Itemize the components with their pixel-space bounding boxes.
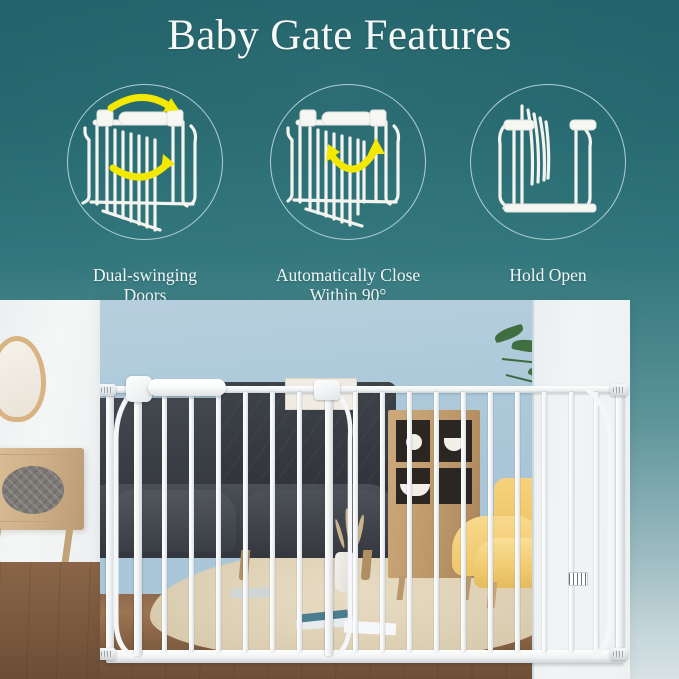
wood-cabinet: [0, 448, 84, 530]
gate-brace-left: [100, 384, 160, 664]
gate-pressure-indicator: [568, 572, 588, 586]
feature-caption-line1: Automatically Close: [276, 265, 420, 285]
gate-bar: [461, 392, 466, 652]
cabinet-leg: [62, 528, 74, 562]
gate-wall-mount-bottom-right: [610, 648, 628, 660]
feature-caption: Hold Open: [448, 265, 648, 285]
gate-handle[interactable]: [148, 379, 226, 396]
feature-caption-line1: Dual-swinging: [93, 265, 197, 285]
gate-bar: [515, 392, 520, 652]
baby-gate-auto-close-icon: [270, 84, 426, 240]
left-room-wall: [0, 300, 100, 679]
gate-wall-mount-top-right: [610, 384, 628, 396]
baby-gate: [100, 300, 630, 679]
page-title: Baby Gate Features: [0, 8, 679, 64]
gate-wall-mount-top-left: [100, 384, 116, 396]
gate-bar: [189, 392, 194, 652]
baby-gate-hold-open-icon: [470, 84, 626, 240]
cabinet-rattan-circle: [2, 466, 64, 514]
gate-bar: [488, 392, 493, 652]
gate-bar: [243, 392, 248, 652]
cabinet-leg: [0, 528, 1, 562]
gate-bar: [162, 392, 167, 652]
arrow-head-right: [368, 138, 385, 154]
feature-row: Dual-swinging Doors: [0, 84, 679, 300]
feature-caption: Automatically Close Within 90°: [248, 265, 448, 305]
gate-brace-right: [570, 384, 630, 664]
gate-bar: [380, 392, 385, 652]
feature-caption-line1: Hold Open: [509, 265, 586, 285]
gate-bar: [297, 392, 302, 652]
gate-brace-middle: [312, 384, 360, 664]
gate-bar: [542, 392, 547, 652]
baby-gate-dual-swing-icon: [67, 84, 223, 240]
gate-bar: [407, 392, 412, 652]
gate-bar: [434, 392, 439, 652]
gate-bar: [216, 392, 221, 652]
feature-caption: Dual-swinging Doors: [45, 265, 245, 305]
product-feature-image: Baby Gate Features: [0, 0, 679, 679]
room-photo: [100, 300, 630, 679]
arched-mirror: [0, 336, 46, 422]
left-wood-floor: [0, 562, 100, 679]
gate-bar: [270, 392, 275, 652]
gate-wall-mount-bottom-left: [100, 648, 116, 660]
